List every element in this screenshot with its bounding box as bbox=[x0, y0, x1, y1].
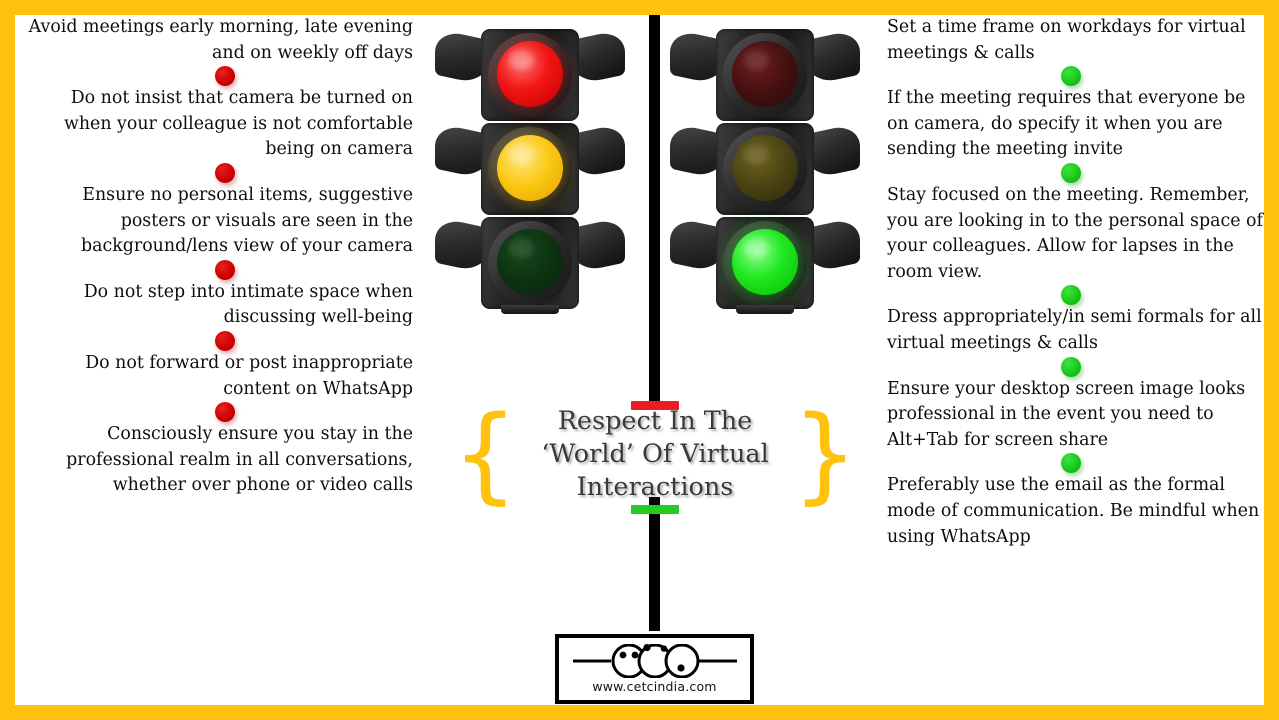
right-traffic-light bbox=[670, 29, 860, 312]
bullet-separator bbox=[25, 331, 425, 351]
lamp-housing bbox=[481, 123, 579, 215]
left-guidelines-column: Avoid meetings early morning, late eveni… bbox=[25, 15, 425, 499]
green-bullet-icon bbox=[1061, 66, 1081, 86]
lamp-hood bbox=[723, 33, 807, 117]
list-item: Consciously ensure you stay in the profe… bbox=[25, 422, 425, 499]
list-item: Set a time frame on workdays for virtual… bbox=[871, 15, 1271, 66]
right-brace-icon: } bbox=[792, 417, 858, 492]
bullet-separator bbox=[25, 163, 425, 183]
traffic-lamp-red bbox=[435, 29, 625, 123]
list-item: Stay focused on the meeting. Remember, y… bbox=[871, 183, 1271, 285]
bullet-separator bbox=[25, 66, 425, 86]
list-item: Do not insist that camera be turned on w… bbox=[25, 86, 425, 163]
left-traffic-light bbox=[435, 29, 625, 312]
lamp-hood bbox=[723, 127, 807, 211]
infographic-poster: Avoid meetings early morning, late eveni… bbox=[0, 0, 1279, 720]
traffic-lamp-red bbox=[670, 29, 860, 123]
traffic-lamp-green bbox=[670, 217, 860, 311]
red-bullet-icon bbox=[215, 402, 235, 422]
bullet-separator bbox=[871, 285, 1271, 305]
lamp-lens-green-off bbox=[497, 229, 563, 295]
green-bullet-icon bbox=[1061, 163, 1081, 183]
red-bullet-icon bbox=[215, 260, 235, 280]
lamp-housing bbox=[481, 217, 579, 309]
green-bullet-icon bbox=[1061, 453, 1081, 473]
lamp-lens-green-on bbox=[732, 229, 798, 295]
red-bullet-icon bbox=[215, 163, 235, 183]
cetc-logo-icon bbox=[571, 644, 739, 678]
logo-box: www.cetcindia.com bbox=[555, 634, 754, 704]
red-bullet-icon bbox=[215, 66, 235, 86]
red-bullet-icon bbox=[215, 331, 235, 351]
lamp-housing bbox=[716, 29, 814, 121]
lamp-lens-red-on bbox=[497, 41, 563, 107]
lamp-housing bbox=[716, 123, 814, 215]
lamp-hood bbox=[723, 221, 807, 305]
lamp-lens-amber-on bbox=[497, 135, 563, 201]
list-item: Do not step into intimate space when dis… bbox=[25, 280, 425, 331]
green-dash-marker bbox=[631, 505, 679, 514]
traffic-lamp-amber bbox=[435, 123, 625, 217]
list-item: Ensure your desktop screen image looks p… bbox=[871, 377, 1271, 454]
traffic-light-base bbox=[501, 305, 559, 314]
bullet-separator bbox=[25, 260, 425, 280]
list-item: Preferably use the email as the formal m… bbox=[871, 473, 1271, 550]
center-divider-line-bottom bbox=[649, 705, 660, 720]
traffic-light-base bbox=[736, 305, 794, 314]
title-block: { Respect In The ‘World’ Of Virtual Inte… bbox=[452, 411, 858, 497]
page-title: Respect In The ‘World’ Of Virtual Intera… bbox=[522, 405, 788, 504]
logo-url-text: www.cetcindia.com bbox=[592, 679, 716, 694]
lamp-housing bbox=[481, 29, 579, 121]
lamp-lens-red-off bbox=[732, 41, 798, 107]
bullet-separator bbox=[871, 163, 1271, 183]
lamp-hood bbox=[488, 33, 572, 117]
list-item: Dress appropriately/in semi formals for … bbox=[871, 305, 1271, 356]
lamp-housing bbox=[716, 217, 814, 309]
lamp-hood bbox=[488, 221, 572, 305]
list-item: Avoid meetings early morning, late eveni… bbox=[25, 15, 425, 66]
lamp-hood bbox=[488, 127, 572, 211]
list-item: Do not forward or post inappropriate con… bbox=[25, 351, 425, 402]
bullet-separator bbox=[25, 402, 425, 422]
lamp-lens-amber-off bbox=[732, 135, 798, 201]
green-bullet-icon bbox=[1061, 357, 1081, 377]
bullet-separator bbox=[871, 66, 1271, 86]
center-divider-line-top bbox=[649, 0, 660, 410]
traffic-lamp-amber bbox=[670, 123, 860, 217]
green-bullet-icon bbox=[1061, 285, 1081, 305]
right-guidelines-column: Set a time frame on workdays for virtual… bbox=[871, 15, 1271, 550]
bullet-separator bbox=[871, 453, 1271, 473]
list-item: Ensure no personal items, suggestive pos… bbox=[25, 183, 425, 260]
bullet-separator bbox=[871, 357, 1271, 377]
list-item: If the meeting requires that everyone be… bbox=[871, 86, 1271, 163]
center-divider-line-middle bbox=[649, 497, 660, 631]
traffic-lamp-green bbox=[435, 217, 625, 311]
left-brace-icon: { bbox=[452, 417, 518, 492]
